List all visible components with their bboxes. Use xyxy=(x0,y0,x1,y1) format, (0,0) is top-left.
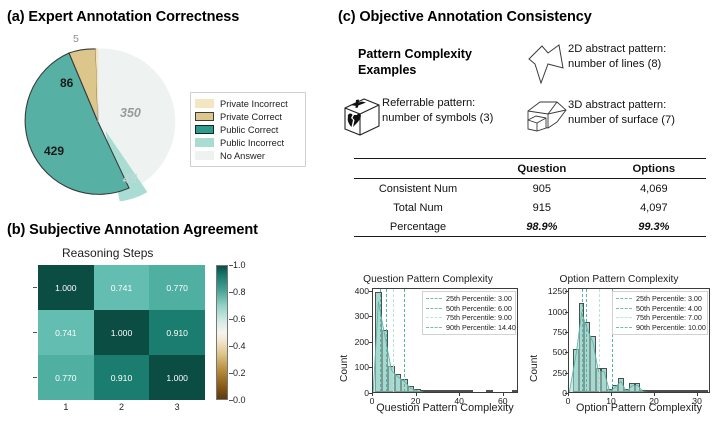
legend-dashed-line-icon xyxy=(426,308,442,309)
3d-abstract-pattern-icon xyxy=(526,98,568,143)
table-cell-question: 98.9% xyxy=(482,217,602,237)
example-referrable-pattern: Referrable pattern: number of symbols (3… xyxy=(342,96,493,143)
hist-o-legend-item: 50th Percentile: 4.00 xyxy=(616,304,704,314)
panel-a-expert-annotation-correctness: (a) Expert Annotation Correctness 5 86 4… xyxy=(0,0,330,215)
y-tick-label: 1250 xyxy=(523,286,567,296)
y-tick-mark xyxy=(565,312,568,313)
table-cell-options: 4,069 xyxy=(602,179,706,199)
heatmap-cell: 0.770 xyxy=(149,265,205,310)
hist-q-legend-item: 75th Percentile: 9.00 xyxy=(426,313,512,323)
x-tick-mark xyxy=(416,393,417,396)
legend-swatch-no-answer xyxy=(195,151,214,160)
legend-dashed-line-icon xyxy=(616,308,632,309)
legend-item-no-answer: No Answer xyxy=(195,149,300,162)
heatmap-cell: 0.910 xyxy=(149,310,205,355)
x-tick-mark xyxy=(459,393,460,396)
example-2d-text: 2D abstract pattern: number of lines (8) xyxy=(568,42,666,71)
hist-q-title: Question Pattern Complexity xyxy=(330,274,526,285)
example-3d-line2: number of surface (7) xyxy=(568,114,675,126)
table-cell-question: 915 xyxy=(482,198,602,217)
y-tick-mark xyxy=(369,342,372,343)
example-2d-abstract-pattern: 2D abstract pattern: number of lines (8) xyxy=(526,42,666,91)
x-tick-mark xyxy=(372,393,373,396)
hist-q-legend-item: 50th Percentile: 6.00 xyxy=(426,304,512,314)
pie-label-private-correct: 86 xyxy=(60,76,73,90)
example-referrable-line1: Referrable pattern: xyxy=(382,97,475,109)
pattern-complexity-examples-heading: Pattern Complexity Examples xyxy=(358,46,508,78)
heatmap-colorbar xyxy=(216,265,228,400)
hist-o-legend-item: 25th Percentile: 3.00 xyxy=(616,294,704,304)
y-tick-label: 750 xyxy=(523,327,567,337)
table-row: Consistent Num 905 4,069 xyxy=(354,179,706,199)
legend-label-public-incorrect: Public Incorrect xyxy=(220,138,284,148)
example-referrable-line2: number of symbols (3) xyxy=(382,112,493,124)
table-row: Total Num 915 4,097 xyxy=(354,198,706,217)
y-tick-label: 400 xyxy=(331,286,369,296)
y-tick-mark xyxy=(369,367,372,368)
legend-label-public-correct: Public Correct xyxy=(220,125,278,135)
x-tick-mark xyxy=(697,393,698,396)
percentile-line xyxy=(393,289,394,392)
legend-item-private-correct: Private Correct xyxy=(195,110,300,123)
pie-legend: Private Incorrect Private Correct Public… xyxy=(190,92,306,167)
legend-label: 50th Percentile: 6.00 xyxy=(446,304,512,313)
hist-o-legend: 25th Percentile: 3.00 50th Percentile: 4… xyxy=(612,291,708,335)
hist-q-legend-item: 90th Percentile: 14.40 xyxy=(426,323,512,333)
pie-label-public-incorrect: 45 xyxy=(123,172,137,186)
heatmap-cell: 1.000 xyxy=(38,265,94,310)
heatmap-x-ticklabels: 1 2 3 xyxy=(38,402,205,412)
hist-o-legend-item: 90th Percentile: 10.00 xyxy=(616,323,704,333)
panel-c-objective-annotation-consistency: (c) Objective Annotation Consistency Pat… xyxy=(330,0,718,442)
table-cell-label: Percentage xyxy=(354,217,482,237)
colorbar-tick: 0.8 xyxy=(233,287,246,297)
legend-label: 90th Percentile: 14.40 xyxy=(446,323,516,332)
table-header-blank xyxy=(354,159,482,179)
y-tick-label: 100 xyxy=(331,362,369,372)
legend-label-private-correct: Private Correct xyxy=(220,112,282,122)
y-tick-label: 300 xyxy=(331,311,369,321)
heatmap-cell: 0.910 xyxy=(94,355,150,400)
legend-label: 75th Percentile: 9.00 xyxy=(446,313,512,322)
pie-chart-svg xyxy=(16,36,196,211)
table-cell-label: Consistent Num xyxy=(354,179,482,199)
2d-abstract-pattern-icon xyxy=(526,42,568,91)
colorbar-tick: 0.2 xyxy=(233,368,246,378)
table-row: Percentage 98.9% 99.3% xyxy=(354,217,706,237)
legend-item-public-correct: Public Correct xyxy=(195,123,300,136)
x-tick-mark xyxy=(654,393,655,396)
heatmap-xtick: 3 xyxy=(149,402,205,412)
legend-item-public-incorrect: Public Incorrect xyxy=(195,136,300,149)
percentile-line xyxy=(386,289,387,392)
table-cell-options: 4,097 xyxy=(602,198,706,217)
panel-a-title: (a) Expert Annotation Correctness xyxy=(7,9,239,25)
pie-label-no-answer: 350 xyxy=(120,106,141,120)
heatmap-cell: 0.741 xyxy=(94,265,150,310)
pie-label-private-incorrect: 5 xyxy=(73,33,79,45)
legend-item-private-incorrect: Private Incorrect xyxy=(195,97,300,110)
percentile-line xyxy=(380,289,381,392)
legend-dashed-line-icon xyxy=(426,327,442,328)
legend-label: 90th Percentile: 10.00 xyxy=(636,323,706,332)
heatmap-xtick: 2 xyxy=(94,402,150,412)
colorbar-ticklabels: 0.0 0.2 0.4 0.6 0.8 1.0 xyxy=(229,259,265,406)
legend-label: 25th Percentile: 3.00 xyxy=(446,294,512,303)
example-3d-text: 3D abstract pattern: number of surface (… xyxy=(568,98,675,127)
heatmap-cell: 1.000 xyxy=(94,310,150,355)
panel-c-title: (c) Objective Annotation Consistency xyxy=(338,9,592,25)
legend-label-no-answer: No Answer xyxy=(220,151,265,161)
legend-dashed-line-icon xyxy=(616,327,632,328)
question-pattern-complexity-histogram: Question Pattern Complexity Count 010020… xyxy=(330,272,526,442)
percentile-line xyxy=(586,289,587,392)
colorbar-tick: 0.0 xyxy=(233,395,246,405)
x-tick-mark xyxy=(568,393,569,396)
legend-dashed-line-icon xyxy=(616,298,632,299)
y-tick-mark xyxy=(565,352,568,353)
example-referrable-text: Referrable pattern: number of symbols (3… xyxy=(382,96,493,125)
percentile-line xyxy=(582,289,583,392)
hist-o-xlabel: Option Pattern Complexity xyxy=(568,402,710,414)
y-tick-mark xyxy=(369,291,372,292)
consistency-table: Question Options Consistent Num 905 4,06… xyxy=(354,158,706,237)
heatmap-cell: 0.741 xyxy=(38,310,94,355)
heatmap-cell: 1.000 xyxy=(149,355,205,400)
panel-b-title: (b) Subjective Annotation Agreement xyxy=(7,222,258,238)
percentile-line xyxy=(599,289,600,392)
y-tick-mark xyxy=(565,373,568,374)
pie-chart: 5 86 429 45 350 xyxy=(16,36,196,211)
hist-o-title: Option Pattern Complexity xyxy=(520,274,718,285)
x-tick-mark xyxy=(611,393,612,396)
heatmap-xtick: 1 xyxy=(38,402,94,412)
heatmap-title: Reasoning Steps xyxy=(62,246,153,260)
legend-swatch-private-incorrect xyxy=(195,99,214,108)
hist-o-legend-item: 75th Percentile: 7.00 xyxy=(616,313,704,323)
legend-dashed-line-icon xyxy=(616,317,632,318)
hist-q-xlabel: Question Pattern Complexity xyxy=(372,402,518,414)
colorbar-tick: 1.0 xyxy=(233,260,246,270)
example-2d-line2: number of lines (8) xyxy=(568,58,661,70)
y-tick-mark xyxy=(565,332,568,333)
table-header-question: Question xyxy=(482,159,602,179)
table-cell-label: Total Num xyxy=(354,198,482,217)
legend-swatch-private-correct xyxy=(195,112,214,121)
y-tick-label: 250 xyxy=(523,368,567,378)
percentile-line xyxy=(404,289,405,392)
example-3d-line1: 3D abstract pattern: xyxy=(568,99,666,111)
x-tick-mark xyxy=(503,393,504,396)
heatmap-cell: 0.770 xyxy=(38,355,94,400)
y-tick-mark xyxy=(565,291,568,292)
pie-label-public-correct: 429 xyxy=(44,144,64,158)
option-pattern-complexity-histogram: Option Pattern Complexity Count 02505007… xyxy=(520,272,718,442)
y-tick-label: 200 xyxy=(331,337,369,347)
table-cell-options: 99.3% xyxy=(602,217,706,237)
legend-label: 50th Percentile: 4.00 xyxy=(636,304,702,313)
legend-swatch-public-incorrect xyxy=(195,138,214,147)
legend-dashed-line-icon xyxy=(426,317,442,318)
panel-b-subjective-annotation-agreement: (b) Subjective Annotation Agreement Reas… xyxy=(0,213,330,442)
referrable-pattern-icon xyxy=(342,96,382,143)
y-tick-label: 500 xyxy=(523,347,567,357)
hist-q-legend-item: 25th Percentile: 3.00 xyxy=(426,294,512,304)
table-cell-question: 905 xyxy=(482,179,602,199)
table-header-row: Question Options xyxy=(354,159,706,179)
y-tick-label: 1000 xyxy=(523,307,567,317)
example-3d-abstract-pattern: 3D abstract pattern: number of surface (… xyxy=(526,98,675,143)
colorbar-tick: 0.4 xyxy=(233,341,246,351)
legend-label: 75th Percentile: 7.00 xyxy=(636,313,702,322)
legend-swatch-public-correct xyxy=(195,125,214,134)
example-2d-line1: 2D abstract pattern: xyxy=(568,43,666,55)
legend-label-private-incorrect: Private Incorrect xyxy=(220,99,288,109)
hist-q-legend: 25th Percentile: 3.00 50th Percentile: 6… xyxy=(422,291,516,335)
y-tick-mark xyxy=(369,316,372,317)
colorbar-tick: 0.6 xyxy=(233,314,246,324)
heatmap-grid: 1.000 0.741 0.770 0.741 1.000 0.910 0.77… xyxy=(38,265,205,400)
legend-label: 25th Percentile: 3.00 xyxy=(636,294,702,303)
table-header-options: Options xyxy=(602,159,706,179)
legend-dashed-line-icon xyxy=(426,298,442,299)
